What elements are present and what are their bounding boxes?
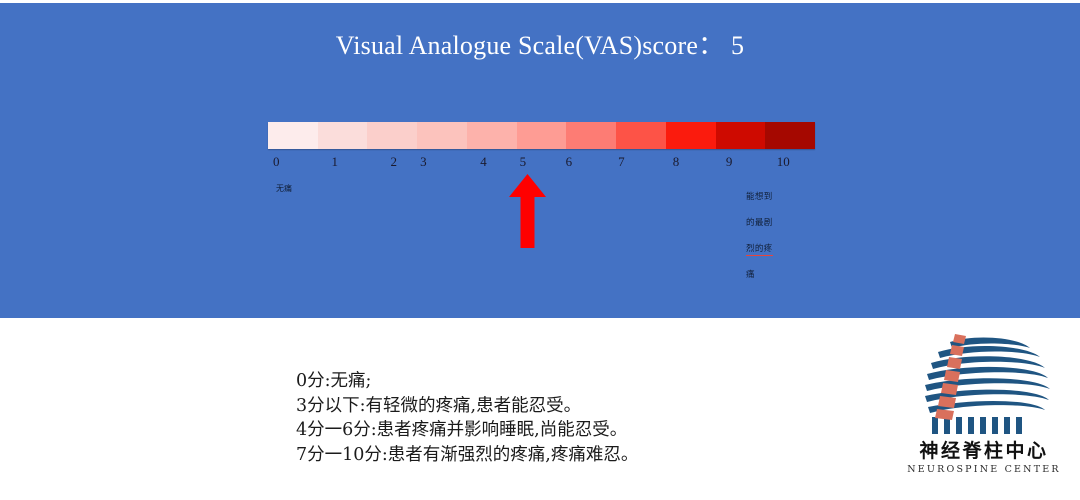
- description-line-0: 0分:无痛;: [296, 369, 638, 394]
- description-line-1: 3分以下:有轻微的疼痛,患者能忍受。: [296, 394, 638, 419]
- scale-label-no-pain: 无痛: [276, 183, 292, 194]
- vas-color-scale-bar[interactable]: [268, 122, 815, 149]
- scale-segment-0: [268, 122, 318, 149]
- scale-tick-2[interactable]: 2: [391, 154, 398, 170]
- worst-pain-label-line-2: 烈的疼: [746, 236, 792, 262]
- scale-tick-6[interactable]: 6: [566, 154, 573, 170]
- scale-segment-7: [616, 122, 666, 149]
- worst-pain-label-line-3: 痛: [746, 262, 792, 288]
- scale-tick-3[interactable]: 3: [420, 154, 427, 170]
- neurospine-center-logo: 神经脊柱中心 NEUROSPINE CENTER: [898, 332, 1070, 492]
- logo-dome-spine-icon: [914, 332, 1054, 434]
- scale-segment-5: [517, 122, 567, 149]
- vas-scale-tick-labels: 012345678910: [268, 154, 815, 174]
- scale-tick-7[interactable]: 7: [618, 154, 625, 170]
- scale-segment-6: [566, 122, 616, 149]
- scale-tick-10[interactable]: 10: [777, 154, 790, 170]
- description-line-3: 7分一10分:患者有渐强烈的疼痛,疼痛难忍。: [296, 443, 638, 468]
- scale-tick-0[interactable]: 0: [273, 154, 280, 170]
- scale-segment-8: [666, 122, 716, 149]
- scale-label-worst-pain: 能想到的最剧烈的疼痛: [746, 184, 792, 288]
- scale-tick-1[interactable]: 1: [331, 154, 338, 170]
- scale-segment-2: [367, 122, 417, 149]
- score-marker-arrow-icon: [509, 174, 546, 248]
- description-line-2: 4分一6分:患者疼痛并影响睡眠,尚能忍受。: [296, 418, 638, 443]
- vas-score-description: 0分:无痛;3分以下:有轻微的疼痛,患者能忍受。4分一6分:患者疼痛并影响睡眠,…: [296, 369, 638, 467]
- scale-segment-1: [318, 122, 368, 149]
- page-title: Visual Analogue Scale(VAS)score： 5: [0, 25, 1080, 62]
- scale-segment-10: [765, 122, 815, 149]
- worst-pain-label-line-1: 的最剧: [746, 210, 792, 236]
- logo-name-english: NEUROSPINE CENTER: [898, 464, 1070, 475]
- scale-tick-9[interactable]: 9: [726, 154, 733, 170]
- worst-pain-label-line-0: 能想到: [746, 184, 792, 210]
- scale-segment-4: [467, 122, 517, 149]
- scale-segment-9: [716, 122, 766, 149]
- vas-panel: Visual Analogue Scale(VAS)score： 5 01234…: [0, 3, 1080, 318]
- scale-tick-4[interactable]: 4: [480, 154, 487, 170]
- scale-segment-3: [417, 122, 467, 149]
- logo-name-chinese: 神经脊柱中心: [898, 436, 1070, 463]
- worst-pain-label-underlined: 烈的疼: [746, 244, 773, 256]
- scale-tick-8[interactable]: 8: [673, 154, 680, 170]
- scale-tick-5[interactable]: 5: [520, 154, 527, 170]
